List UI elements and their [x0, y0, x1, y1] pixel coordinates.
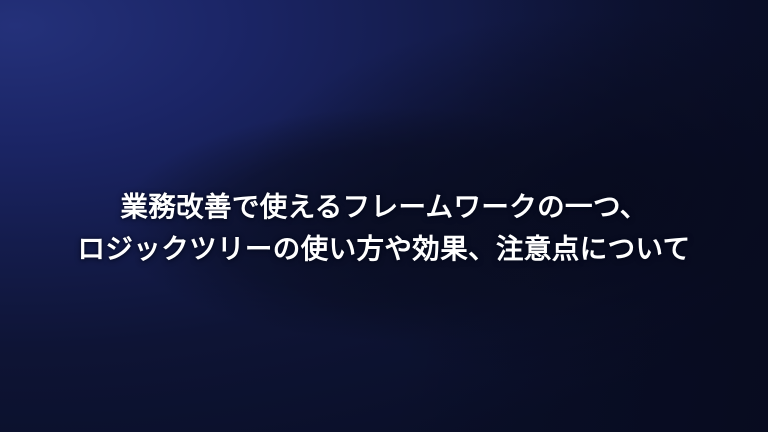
- title-card: 業務改善で使えるフレームワークの一つ、 ロジックツリーの使い方や効果、注意点につ…: [0, 0, 768, 432]
- title-line-1: 業務改善で使えるフレームワークの一つ、: [0, 186, 768, 228]
- title-line-2: ロジックツリーの使い方や効果、注意点について: [0, 228, 768, 270]
- page-title: 業務改善で使えるフレームワークの一つ、 ロジックツリーの使い方や効果、注意点につ…: [0, 186, 768, 270]
